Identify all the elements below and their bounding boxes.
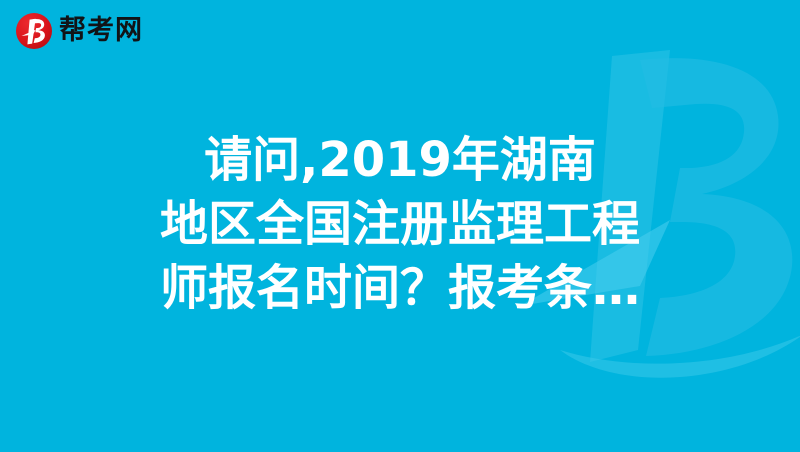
logo-mark-b-icon	[16, 13, 52, 49]
headline-line-2: 地区全国注册监理工程	[24, 192, 776, 256]
poster-canvas: 帮考网 请问,2019年湖南 地区全国注册监理工程 师报名时间？报考条…	[0, 0, 800, 452]
brand-logo[interactable]: 帮考网	[16, 13, 143, 49]
headline-line-3: 师报名时间？报考条…	[24, 256, 776, 320]
headline-block: 请问,2019年湖南 地区全国注册监理工程 师报名时间？报考条…	[0, 128, 800, 320]
brand-name-label: 帮考网	[59, 17, 143, 46]
headline-line-1: 请问,2019年湖南	[24, 128, 776, 192]
